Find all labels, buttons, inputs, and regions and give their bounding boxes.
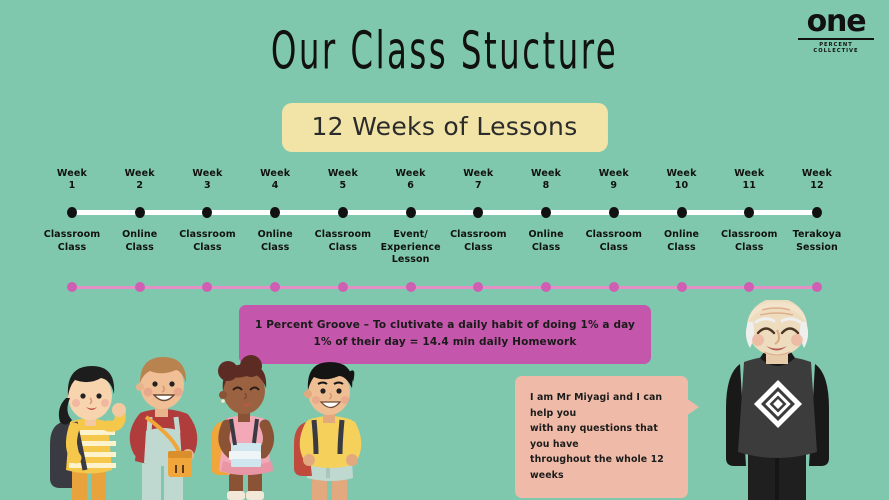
timeline-dot[interactable] [338, 207, 348, 218]
page-title: Our Class Stucture [80, 21, 809, 81]
week-class-type-line: Lesson [368, 254, 454, 267]
bubble-line-3: throughout the whole 12 weeks [530, 452, 673, 483]
groove-dot[interactable] [812, 282, 822, 292]
timeline-dot[interactable] [67, 207, 77, 218]
groove-line-1: 1 Percent Groove – To clutivate a daily … [253, 317, 637, 334]
timeline-dot[interactable] [744, 207, 754, 218]
timeline-dot[interactable] [812, 207, 822, 218]
timeline-dot[interactable] [406, 207, 416, 218]
groove-dot[interactable] [67, 282, 77, 292]
week-header: Week12 [774, 168, 860, 192]
week-class-type-line: Terakoya [774, 229, 860, 242]
timeline-dot[interactable] [135, 207, 145, 218]
timeline-week-12[interactable]: Week12TerakoyaSession [774, 168, 860, 192]
bubble-line-2: with any questions that you have [530, 421, 673, 452]
timeline-dot[interactable] [541, 207, 551, 218]
mentor-miyagi-illustration [700, 300, 855, 500]
groove-dot[interactable] [202, 282, 212, 292]
groove-dot[interactable] [406, 282, 416, 292]
timeline-dot[interactable] [202, 207, 212, 218]
week-number: 12 [774, 180, 860, 192]
groove-dot[interactable] [270, 282, 280, 292]
timeline-dot[interactable] [609, 207, 619, 218]
groove-track [0, 280, 889, 296]
student-boy-backpack-illustration [278, 360, 378, 500]
groove-info-box: 1 Percent Groove – To clutivate a daily … [239, 305, 651, 364]
groove-dot[interactable] [473, 282, 483, 292]
bubble-line-1: I am Mr Miyagi and I can help you [530, 390, 673, 421]
groove-dot[interactable] [135, 282, 145, 292]
weeks-badge: 12 Weeks of Lessons [281, 103, 607, 152]
timeline-track [70, 210, 819, 215]
groove-dot[interactable] [338, 282, 348, 292]
groove-dot[interactable] [609, 282, 619, 292]
speech-bubble-tail [686, 398, 699, 416]
timeline: Week1ClassroomClassWeek2OnlineClassWeek3… [0, 168, 889, 278]
mentor-speech-bubble: I am Mr Miyagi and I can help you with a… [515, 376, 688, 498]
timeline-dot[interactable] [677, 207, 687, 218]
timeline-dot[interactable] [473, 207, 483, 218]
groove-line-2: 1% of their day = 14.4 min daily Homewor… [253, 334, 637, 351]
groove-dot[interactable] [677, 282, 687, 292]
groove-dot[interactable] [744, 282, 754, 292]
groove-dot[interactable] [541, 282, 551, 292]
groove-line [72, 286, 817, 289]
timeline-dot[interactable] [270, 207, 280, 218]
slide-canvas: one PERCENT COLLECTIVE Our Class Stuctur… [0, 0, 889, 500]
week-class-type-line: Session [774, 242, 860, 255]
week-class-type: TerakoyaSession [774, 229, 860, 254]
